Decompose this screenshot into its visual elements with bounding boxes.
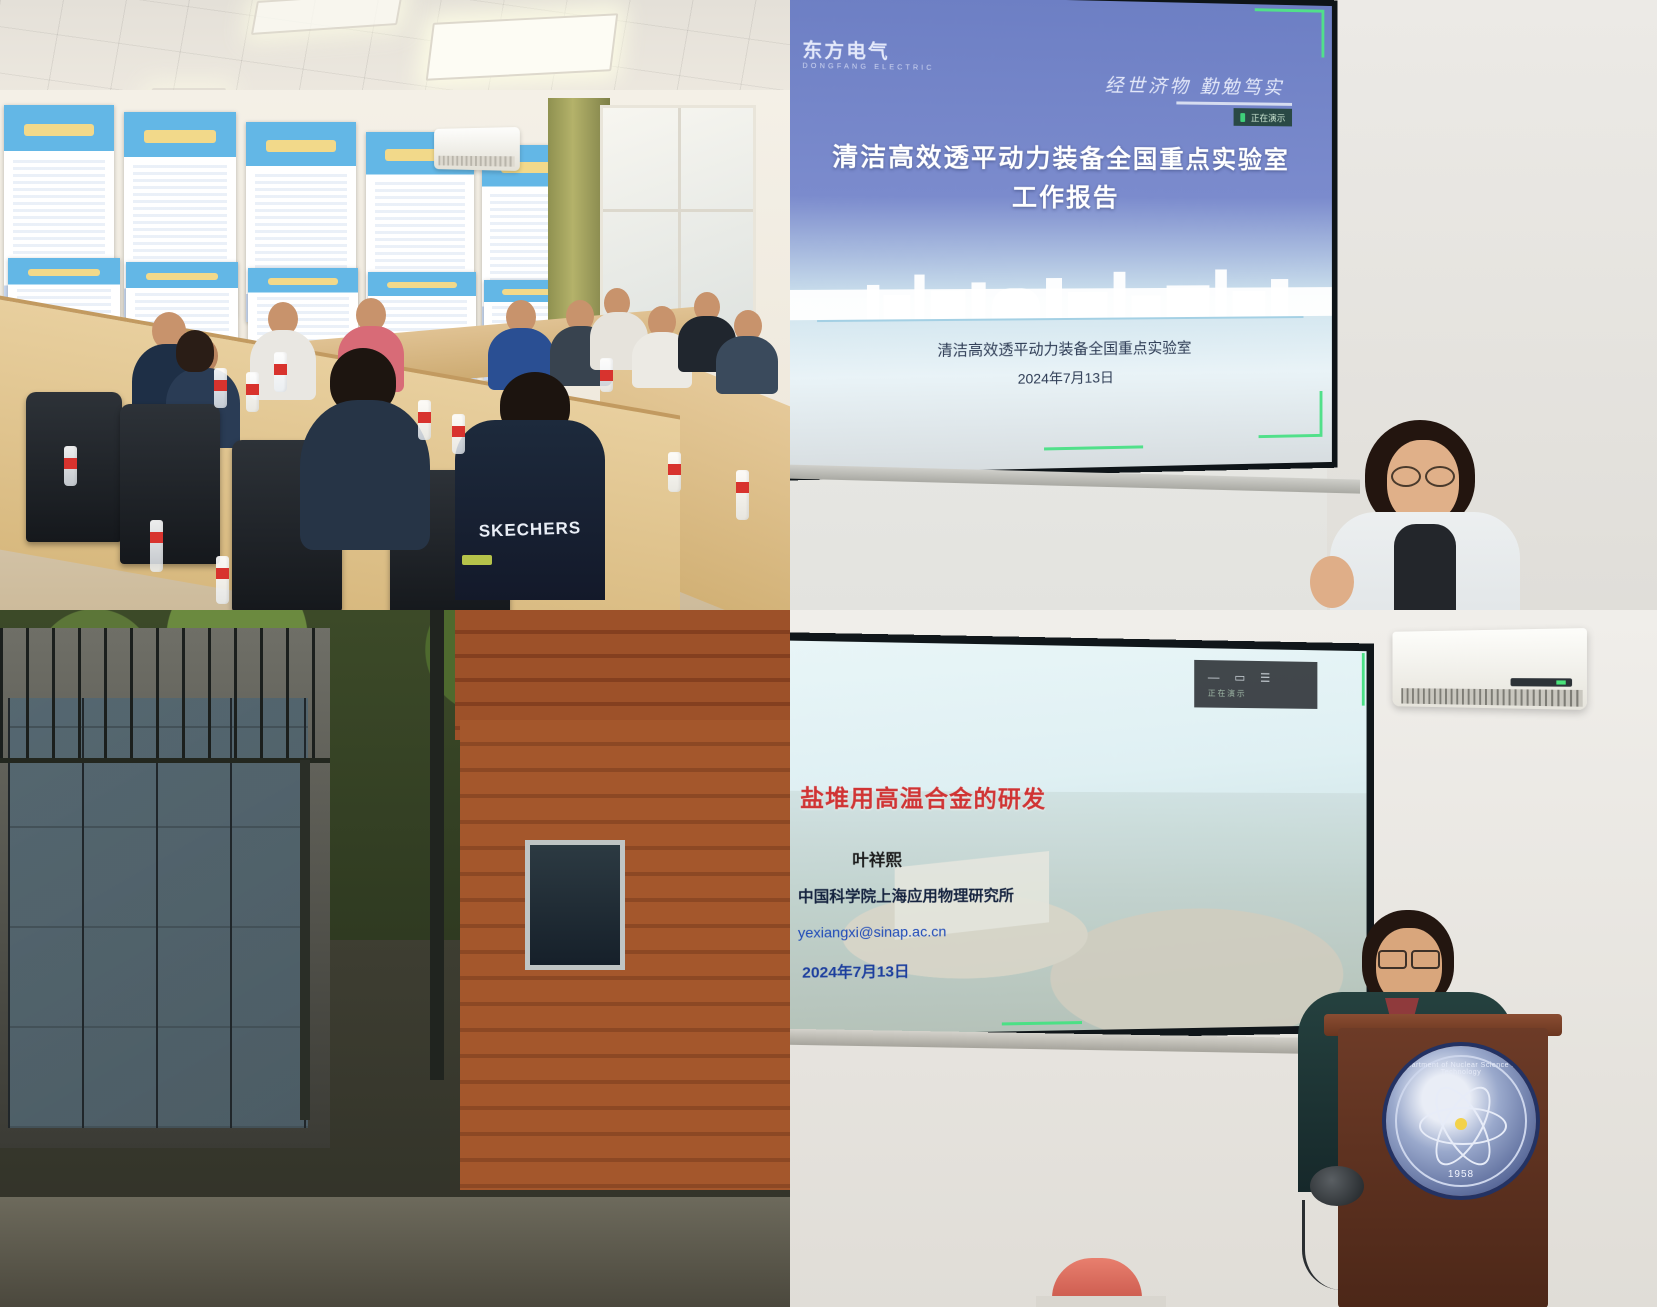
air-conditioner-icon: [1392, 628, 1587, 710]
toolbar-icons: — ▭ ☰: [1208, 670, 1276, 685]
water-bottle: [600, 358, 613, 392]
air-conditioner-icon: [434, 127, 520, 171]
slide-title: 清洁高效透平动力装备全国重点实验室 工作报告: [790, 137, 1332, 217]
metal-railing: [0, 628, 330, 763]
green-edge-marker: [1044, 445, 1143, 450]
skyline-graphic: [790, 252, 1332, 321]
eyeglasses-icon: [1391, 466, 1455, 483]
green-corner-marker: [1259, 391, 1323, 438]
support-pole-2: [300, 760, 310, 1120]
water-bottle: [668, 452, 681, 492]
slide-title: 盐堆用高温合金的研发: [800, 778, 1046, 813]
slide-presenter: 叶祥熙: [852, 846, 902, 871]
shipping-container: [460, 720, 790, 1190]
green-edge-marker: [1362, 653, 1365, 706]
emblem-arc-text: Department of Nuclear Science and Techno…: [1386, 1062, 1536, 1076]
slide-footer-date: 2024年7月13日: [790, 361, 1332, 395]
attendee-head: [176, 330, 214, 372]
presenting-indicator-icon: [1240, 113, 1245, 122]
panel-meeting-room: SKECHERS: [0, 0, 790, 610]
slide-title-line2: 工作报告: [790, 177, 1332, 218]
emblem-year: 1958: [1386, 1169, 1536, 1180]
panel-outdoor-banner: 科学计算发展及 应用研讨会 暨核反应堆计算软件研讨会（二期） 由此进入 主办单位…: [0, 610, 790, 1307]
status-badge-label: 正在演示: [1251, 111, 1285, 124]
panel-slide-presentation: 东方电气 DONGFANG ELECTRIC 经世济物 勤勉笃实 正在演示 清洁…: [790, 0, 1657, 610]
water-bottle: [274, 352, 287, 392]
calligraphy-underline: [1176, 101, 1292, 105]
water-bottle: [64, 446, 77, 486]
slide-date: 2024年7月13日: [802, 960, 909, 983]
water-bottle: [216, 556, 229, 604]
brand-en: DONGFANG ELECTRIC: [802, 63, 934, 72]
skechers-shirt: SKECHERS: [455, 420, 605, 600]
slide-background-photo: [790, 791, 1367, 1036]
slide-email: yexiangxi@sinap.ac.cn: [798, 923, 946, 941]
slide-footer: 清洁高效透平动力装备全国重点实验室 2024年7月13日: [790, 333, 1332, 395]
shirt-tag: [462, 555, 492, 565]
water-bottle: [418, 400, 431, 440]
ac-display-panel: [1511, 678, 1573, 687]
ceiling-light-panel: [426, 13, 619, 81]
status-badge: 正在演示: [1234, 108, 1292, 126]
panel-lecture-podium: — ▭ ☰ 正在演示 盐堆用高温合金的研发 叶祥熙 中国科学院上海应用物理研究所…: [790, 610, 1657, 1307]
microphone-cable: [1302, 1200, 1349, 1290]
speaker-inner-top: [1394, 524, 1456, 610]
brand-cn: 东方电气: [802, 40, 889, 63]
water-bottle: [214, 368, 227, 408]
water-bottle: [150, 520, 163, 572]
calligraphy-text: 经世济物 勤勉笃实: [1105, 71, 1285, 100]
office-chair: [120, 404, 220, 564]
shirt-text: SKECHERS: [463, 518, 598, 543]
photo-collage: SKECHERS 东方电气 DONGFANG ELECTRIC 经世济物 勤勉笃…: [0, 0, 1657, 1307]
projection-screen: 东方电气 DONGFANG ELECTRIC 经世济物 勤勉笃实 正在演示 清洁…: [790, 0, 1338, 481]
eyeglasses-icon: [1378, 950, 1440, 965]
water-bottle: [736, 470, 749, 520]
water-bottle: [452, 414, 465, 454]
support-pole: [430, 610, 444, 1080]
container-window: [525, 840, 625, 970]
atom-icon: [1419, 1082, 1503, 1166]
ground: [0, 1197, 790, 1307]
laptop: [1036, 1296, 1166, 1307]
presenter-toolbar: — ▭ ☰ 正在演示: [1194, 660, 1317, 709]
water-bottle: [246, 372, 259, 412]
slide-title-line1: 清洁高效透平动力装备全国重点实验室: [790, 137, 1332, 180]
speaker-hand: [1310, 556, 1354, 608]
status-badge-label: 正在演示: [1208, 688, 1247, 699]
attendee-body: [716, 336, 778, 394]
green-corner-marker: [1255, 8, 1325, 57]
slide-surface: — ▭ ☰ 正在演示 盐堆用高温合金的研发 叶祥熙 中国科学院上海应用物理研究所…: [790, 641, 1367, 1036]
department-emblem: Department of Nuclear Science and Techno…: [1386, 1046, 1536, 1196]
slide-surface: 东方电气 DONGFANG ELECTRIC 经世济物 勤勉笃实 正在演示 清洁…: [790, 0, 1332, 474]
dongfang-logo: 东方电气 DONGFANG ELECTRIC: [802, 35, 934, 72]
slide-organization: 中国科学院上海应用物理研究所: [798, 884, 1014, 907]
projection-screen: — ▭ ☰ 正在演示 盐堆用高温合金的研发 叶祥熙 中国科学院上海应用物理研究所…: [790, 632, 1374, 1044]
attendee-body-back: [300, 400, 430, 550]
